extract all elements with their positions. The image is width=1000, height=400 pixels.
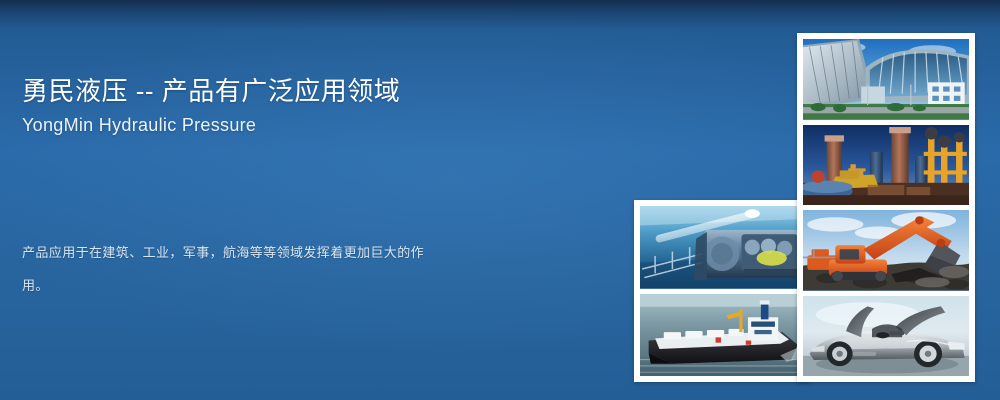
naval-warship-missile-launch-photo[interactable] xyxy=(640,206,803,289)
page-title: 勇民液压 -- 产品有广泛应用领域 xyxy=(22,74,400,108)
industry-panel[interactable] xyxy=(797,33,975,382)
modern-architecture-building-photo[interactable] xyxy=(803,39,969,120)
cargo-ship-bulk-carrier-photo[interactable] xyxy=(640,294,803,377)
marine-panel[interactable] xyxy=(634,200,809,382)
hero-banner: 勇民液压 -- 产品有广泛应用领域 YongMin Hydraulic Pres… xyxy=(0,0,1000,400)
industrial-petrochemical-plant-photo[interactable] xyxy=(803,125,969,206)
orange-excavator-construction-photo[interactable] xyxy=(803,210,969,291)
silver-sports-car-photo[interactable] xyxy=(803,296,969,377)
heading-block: 勇民液压 -- 产品有广泛应用领域 YongMin Hydraulic Pres… xyxy=(22,74,400,137)
page-subtitle: YongMin Hydraulic Pressure xyxy=(22,113,400,137)
body-paragraph: 产品应用于在建筑、工业，军事，航海等等领域发挥着更加巨大的作用。 xyxy=(22,236,442,302)
